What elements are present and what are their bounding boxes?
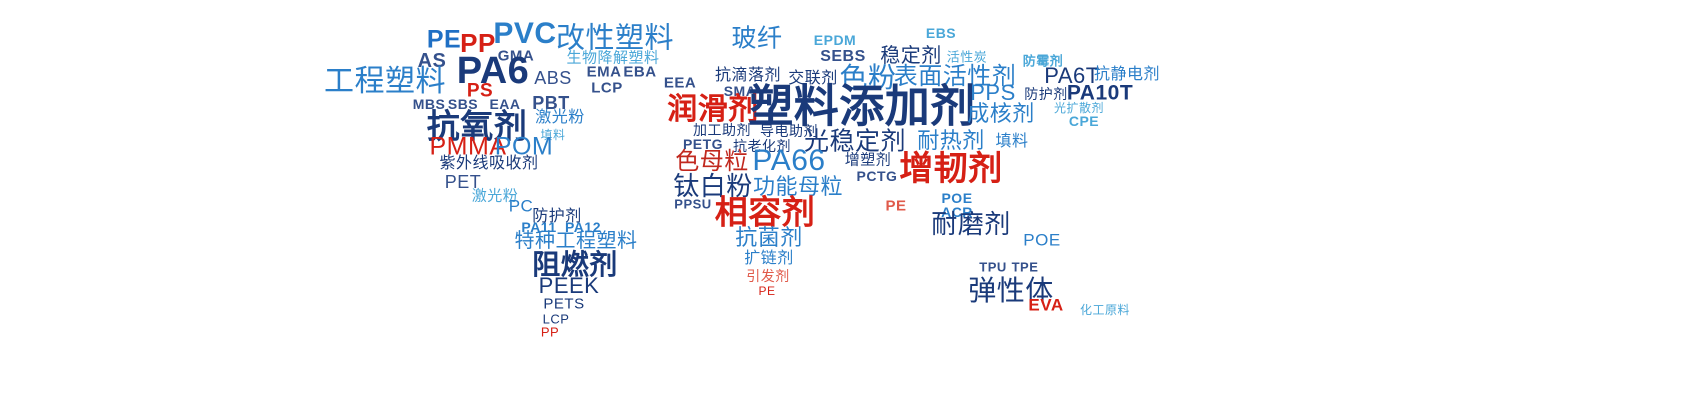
word-cloud-term[interactable]: 抗菌剂	[735, 227, 803, 249]
word-cloud-term[interactable]: 特种工程塑料	[515, 231, 638, 251]
word-cloud-term[interactable]: PC	[509, 198, 534, 215]
word-cloud-term[interactable]: EPDM	[814, 33, 856, 47]
word-cloud-term[interactable]: PPSU	[674, 198, 711, 211]
word-cloud-term[interactable]: 成核剂	[967, 103, 1035, 125]
word-cloud-term[interactable]: PE	[758, 285, 775, 297]
word-cloud-term[interactable]: 耐磨剂	[931, 211, 1011, 237]
word-cloud-term[interactable]: 扩链剂	[744, 251, 794, 267]
word-cloud-term[interactable]: CPE	[1069, 114, 1099, 128]
word-cloud-term[interactable]: 增韧剂	[899, 152, 1003, 186]
word-cloud-term[interactable]: 活性炭	[947, 51, 988, 64]
word-cloud-term[interactable]: PCTG	[857, 169, 898, 183]
word-cloud-term[interactable]: 化工原料	[1080, 304, 1130, 316]
word-cloud-term[interactable]: 增塑剂	[845, 153, 892, 168]
word-cloud-term[interactable]: 耐热剂	[917, 130, 985, 152]
word-cloud-term[interactable]: 紫外线吸收剂	[439, 156, 538, 172]
word-cloud-term[interactable]: TPE	[1012, 261, 1039, 274]
word-cloud-term[interactable]: PE	[885, 199, 906, 214]
word-cloud-term[interactable]: 工程塑料	[324, 67, 446, 97]
word-cloud-term[interactable]: 引发剂	[746, 269, 790, 283]
word-cloud-term[interactable]: EEA	[664, 76, 696, 91]
word-cloud-term[interactable]: 激光粉	[535, 110, 585, 126]
word-cloud: PEPPPVCGMA改性塑料玻纤EPDMEBSASPA6生物降解塑料SEBS稳定…	[0, 0, 1707, 400]
word-cloud-term[interactable]: PA66	[752, 146, 825, 176]
word-cloud-term[interactable]: EBS	[926, 26, 956, 40]
word-cloud-term[interactable]: PETS	[543, 297, 584, 312]
word-cloud-term[interactable]: 加工助剂	[693, 123, 751, 137]
word-cloud-term[interactable]: 塑料添加剂	[748, 84, 976, 129]
word-cloud-term[interactable]: TPU	[979, 261, 1007, 274]
word-cloud-term[interactable]: 玻纤	[731, 27, 782, 52]
word-cloud-term[interactable]: 润滑剂	[667, 95, 759, 125]
word-cloud-term[interactable]: PEEK	[539, 275, 600, 297]
word-cloud-term[interactable]: EBA	[623, 65, 656, 80]
word-cloud-term[interactable]: PP	[541, 326, 559, 339]
word-cloud-term[interactable]: POE	[1023, 232, 1060, 249]
word-cloud-term[interactable]: POE	[941, 191, 972, 205]
word-cloud-term[interactable]: LCP	[591, 81, 623, 96]
word-cloud-term[interactable]: PE	[427, 28, 461, 53]
word-cloud-term[interactable]: EVA	[1028, 297, 1063, 314]
word-cloud-term[interactable]: EMA	[587, 65, 622, 80]
word-cloud-term[interactable]: 填料	[995, 134, 1028, 150]
word-cloud-term[interactable]: ABS	[534, 69, 572, 87]
word-cloud-term[interactable]: PVC	[493, 19, 556, 49]
word-cloud-term[interactable]: 防护剂	[1024, 87, 1068, 101]
word-cloud-term[interactable]: 相容剂	[715, 196, 816, 229]
